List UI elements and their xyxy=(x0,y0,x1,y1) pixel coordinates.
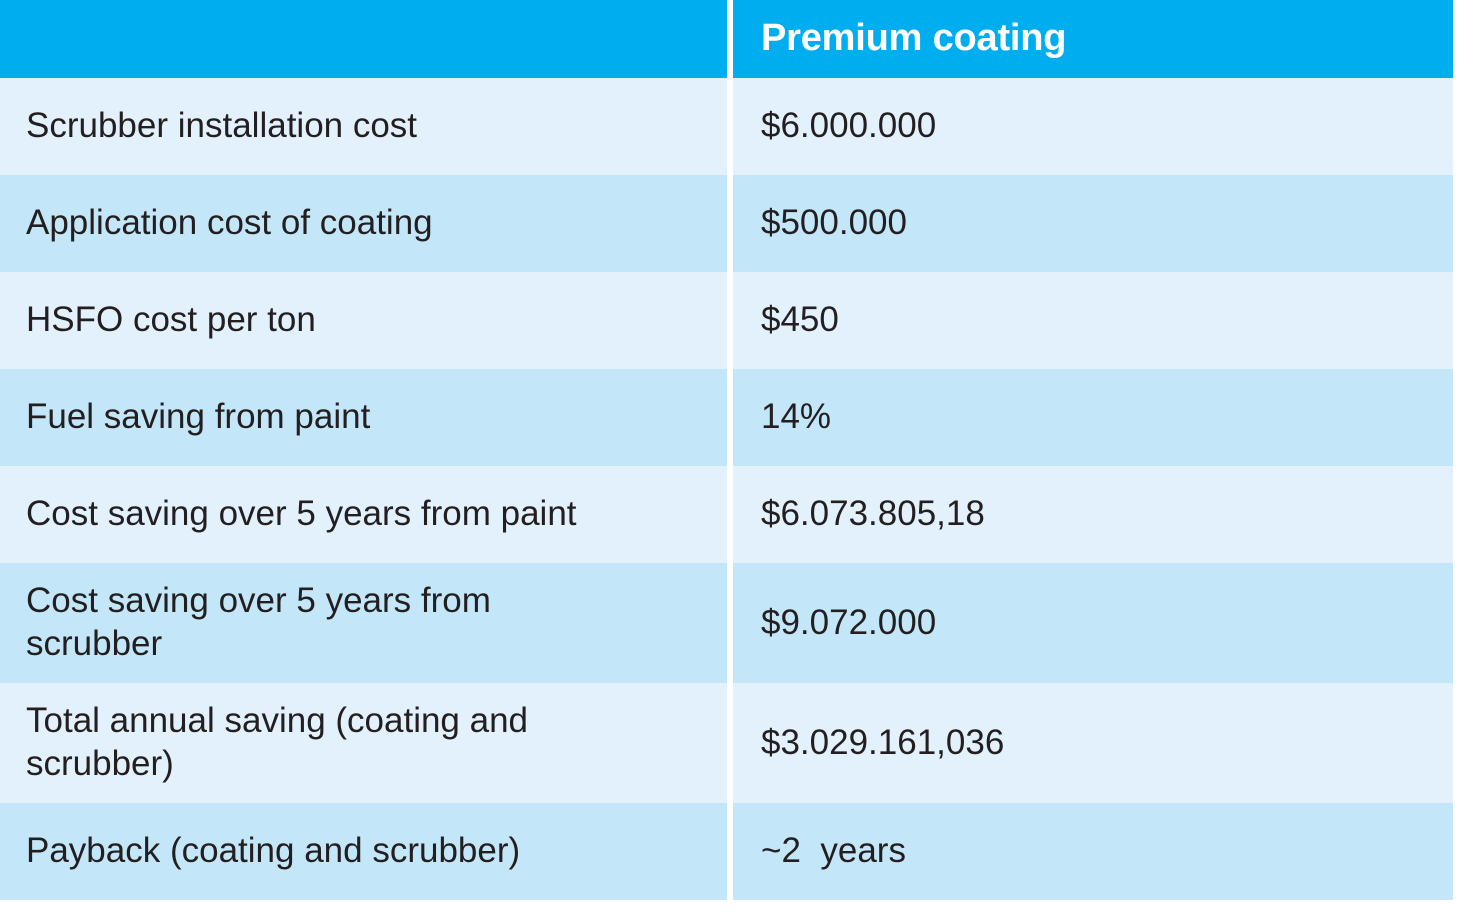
row-label-cell: Application cost of coating xyxy=(0,175,727,272)
row-label-cell: Fuel saving from paint xyxy=(0,369,727,466)
row-value-text: 14% xyxy=(761,396,1435,439)
row-label-text: Fuel saving from paint xyxy=(26,396,709,439)
row-value-cell: $6.000.000 xyxy=(733,78,1453,175)
row-label-text: Application cost of coating xyxy=(26,202,709,245)
column-header-label xyxy=(0,0,727,78)
row-value-cell: $500.000 xyxy=(733,175,1453,272)
row-label-cell: Cost saving over 5 years from scrubber xyxy=(0,563,727,683)
row-value-text: $3.029.161,036 xyxy=(761,722,1435,765)
table-row: Scrubber installation cost $6.000.000 xyxy=(0,78,1453,175)
row-value-text: ~2 years xyxy=(761,830,1435,873)
table-row: Cost saving over 5 years from paint $6.0… xyxy=(0,466,1453,563)
row-label-text: Cost saving over 5 years from paint xyxy=(26,493,709,536)
row-label-text: HSFO cost per ton xyxy=(26,299,709,342)
row-value-text: $6.073.805,18 xyxy=(761,493,1435,536)
row-value-text: $500.000 xyxy=(761,202,1435,245)
row-label-text: Cost saving over 5 years from scrubber xyxy=(26,580,709,665)
column-header-premium-coating: Premium coating xyxy=(733,0,1453,78)
row-label-text: Payback (coating and scrubber) xyxy=(26,830,709,873)
table-row: HSFO cost per ton $450 xyxy=(0,272,1453,369)
row-value-text: $6.000.000 xyxy=(761,105,1435,148)
table-row: Cost saving over 5 years from scrubber $… xyxy=(0,563,1453,683)
row-label-cell: HSFO cost per ton xyxy=(0,272,727,369)
cost-comparison-table: Premium coating Scrubber installation co… xyxy=(0,0,1453,900)
row-value-cell: $6.073.805,18 xyxy=(733,466,1453,563)
row-label-cell: Cost saving over 5 years from paint xyxy=(0,466,727,563)
row-value-cell: $450 xyxy=(733,272,1453,369)
table-row: Application cost of coating $500.000 xyxy=(0,175,1453,272)
row-label-text: Scrubber installation cost xyxy=(26,105,709,148)
row-label-cell: Total annual saving (coating and scrubbe… xyxy=(0,683,727,803)
column-header-premium-coating-text: Premium coating xyxy=(761,19,1453,59)
row-value-text: $9.072.000 xyxy=(761,602,1435,645)
table-bottom-margin xyxy=(0,900,1458,908)
table-row: Total annual saving (coating and scrubbe… xyxy=(0,683,1453,803)
row-value-text: $450 xyxy=(761,299,1435,342)
row-value-cell: 14% xyxy=(733,369,1453,466)
cost-comparison-table-container: Premium coating Scrubber installation co… xyxy=(0,0,1458,918)
row-value-cell: $9.072.000 xyxy=(733,563,1453,683)
row-label-cell: Scrubber installation cost xyxy=(0,78,727,175)
table-header: Premium coating xyxy=(0,0,1453,78)
table-body: Scrubber installation cost $6.000.000 Ap… xyxy=(0,78,1453,900)
row-label-text: Total annual saving (coating and scrubbe… xyxy=(26,700,709,785)
table-row: Fuel saving from paint 14% xyxy=(0,369,1453,466)
row-value-cell: ~2 years xyxy=(733,803,1453,900)
row-value-cell: $3.029.161,036 xyxy=(733,683,1453,803)
table-header-row: Premium coating xyxy=(0,0,1453,78)
row-label-cell: Payback (coating and scrubber) xyxy=(0,803,727,900)
table-row: Payback (coating and scrubber) ~2 years xyxy=(0,803,1453,900)
